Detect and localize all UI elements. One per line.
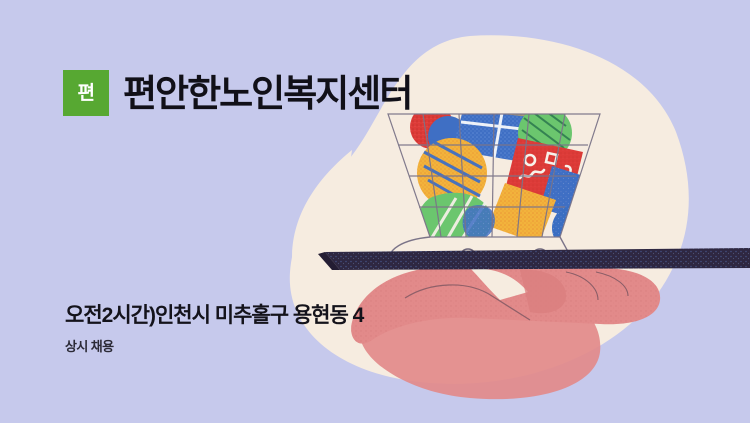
ball-green-striped <box>518 104 572 160</box>
cart-wheels <box>460 249 548 265</box>
hand-holding-bar <box>351 268 660 344</box>
background-fill <box>0 0 750 423</box>
company-logo-badge: 편 <box>63 70 109 116</box>
illustration-shopping-cart <box>0 0 750 423</box>
job-info-block: 오전2시간)인천시 미추홀구 용현동 4 상시 채용 <box>65 303 363 353</box>
cart-contents <box>410 70 598 251</box>
cart-basket-fill <box>388 114 600 237</box>
rose-blob <box>360 269 601 399</box>
cart-wheel-left <box>460 249 476 265</box>
square-yellow-speckled <box>488 183 556 244</box>
box-blue-speckled <box>540 166 590 220</box>
ball-red-small <box>410 105 454 149</box>
ball-blue-speckled <box>552 205 598 251</box>
shape-green-striped <box>417 193 495 248</box>
job-title: 오전2시간)인천시 미추홀구 용현동 4 <box>65 303 363 329</box>
job-status-badge: 상시 채용 <box>65 340 363 353</box>
brand-row: 편 편안한노인복지센터 <box>63 70 411 116</box>
dark-bar <box>318 248 750 270</box>
job-posting-card: 편 편안한노인복지센터 오전2시간)인천시 미추홀구 용현동 4 상시 채용 <box>0 0 750 423</box>
cart-wheel-right <box>532 249 548 265</box>
cart-frame <box>388 237 572 259</box>
ball-yellow-striped <box>417 138 487 208</box>
tag-red-squiggle <box>505 138 583 205</box>
company-name: 편안한노인복지센터 <box>123 75 411 112</box>
ball-blue-back <box>428 116 468 156</box>
cart-grid <box>388 114 600 237</box>
gift-box-blue-with-bow <box>452 70 545 164</box>
